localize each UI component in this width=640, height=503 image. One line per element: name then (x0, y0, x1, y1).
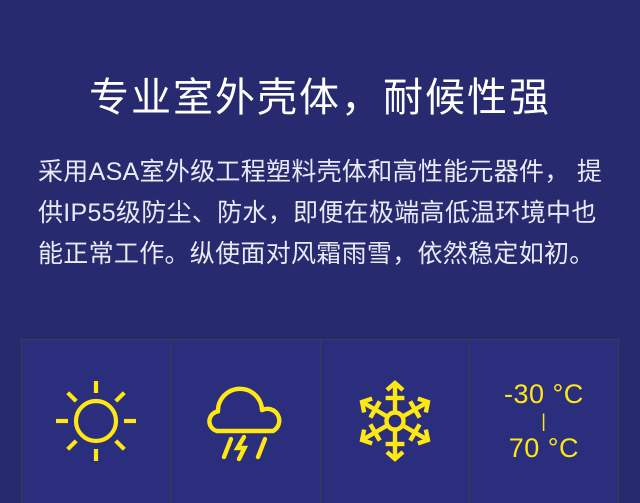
feature-panel-temperature: -30 °C | 70 °C (470, 340, 618, 503)
description-line-1: 采用ASA室外级工程塑料壳体和高性能元器件， 提 (38, 152, 604, 193)
temperature-range-separator: | (504, 411, 584, 431)
temperature-high-value: 70 °C (509, 433, 579, 463)
feature-panel-snowflake (321, 340, 470, 503)
feature-panel-rain-storm (171, 340, 320, 503)
temperature-low-value: -30 °C (504, 379, 584, 409)
rain-storm-icon (197, 373, 293, 469)
snowflake-icon (347, 373, 443, 469)
feature-panel-sun (22, 340, 171, 503)
sun-icon (48, 373, 144, 469)
description-line-3: 能正常工作。纵使面对风霜雨雪，依然稳定如初。 (38, 234, 604, 275)
page-title: 专业室外壳体，耐候性强 (0, 72, 640, 124)
description-line-2: 供IP55级防尘、防水，即便在极端高低温环境中也 (38, 193, 604, 234)
description-paragraph: 采用ASA室外级工程塑料壳体和高性能元器件， 提 供IP55级防尘、防水，即便在… (38, 152, 604, 275)
feature-panel-strip: -30 °C | 70 °C (21, 339, 619, 503)
temperature-range: -30 °C | 70 °C (504, 379, 584, 463)
